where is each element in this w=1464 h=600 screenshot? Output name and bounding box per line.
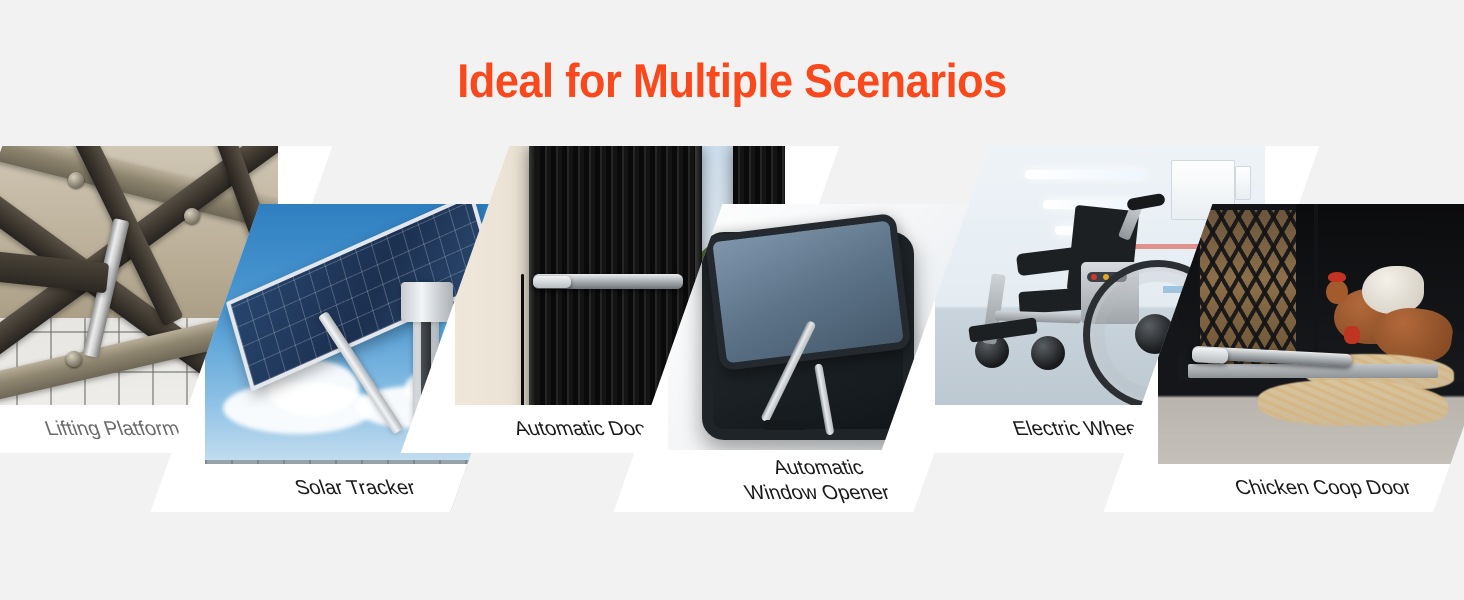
caption-text-line2: Window Opener: [742, 481, 894, 506]
caption-text: Lifting Platform: [42, 417, 184, 442]
caption-chicken-coop-door: Chicken Coop Door: [1158, 464, 1464, 512]
caption-text: Chicken Coop Door: [1231, 476, 1414, 501]
caption-text-line1: Automatic: [769, 456, 867, 481]
caption-text: Solar Tracker: [291, 476, 419, 501]
scenarios-banner: Ideal for Multiple Scenarios Lifting Pla…: [0, 0, 1464, 600]
page-title: Ideal for Multiple Scenarios: [59, 52, 1406, 110]
caption-automatic-window-opener: Automatic Window Opener: [668, 450, 968, 512]
caption-solar-tracker: Solar Tracker: [205, 464, 505, 512]
